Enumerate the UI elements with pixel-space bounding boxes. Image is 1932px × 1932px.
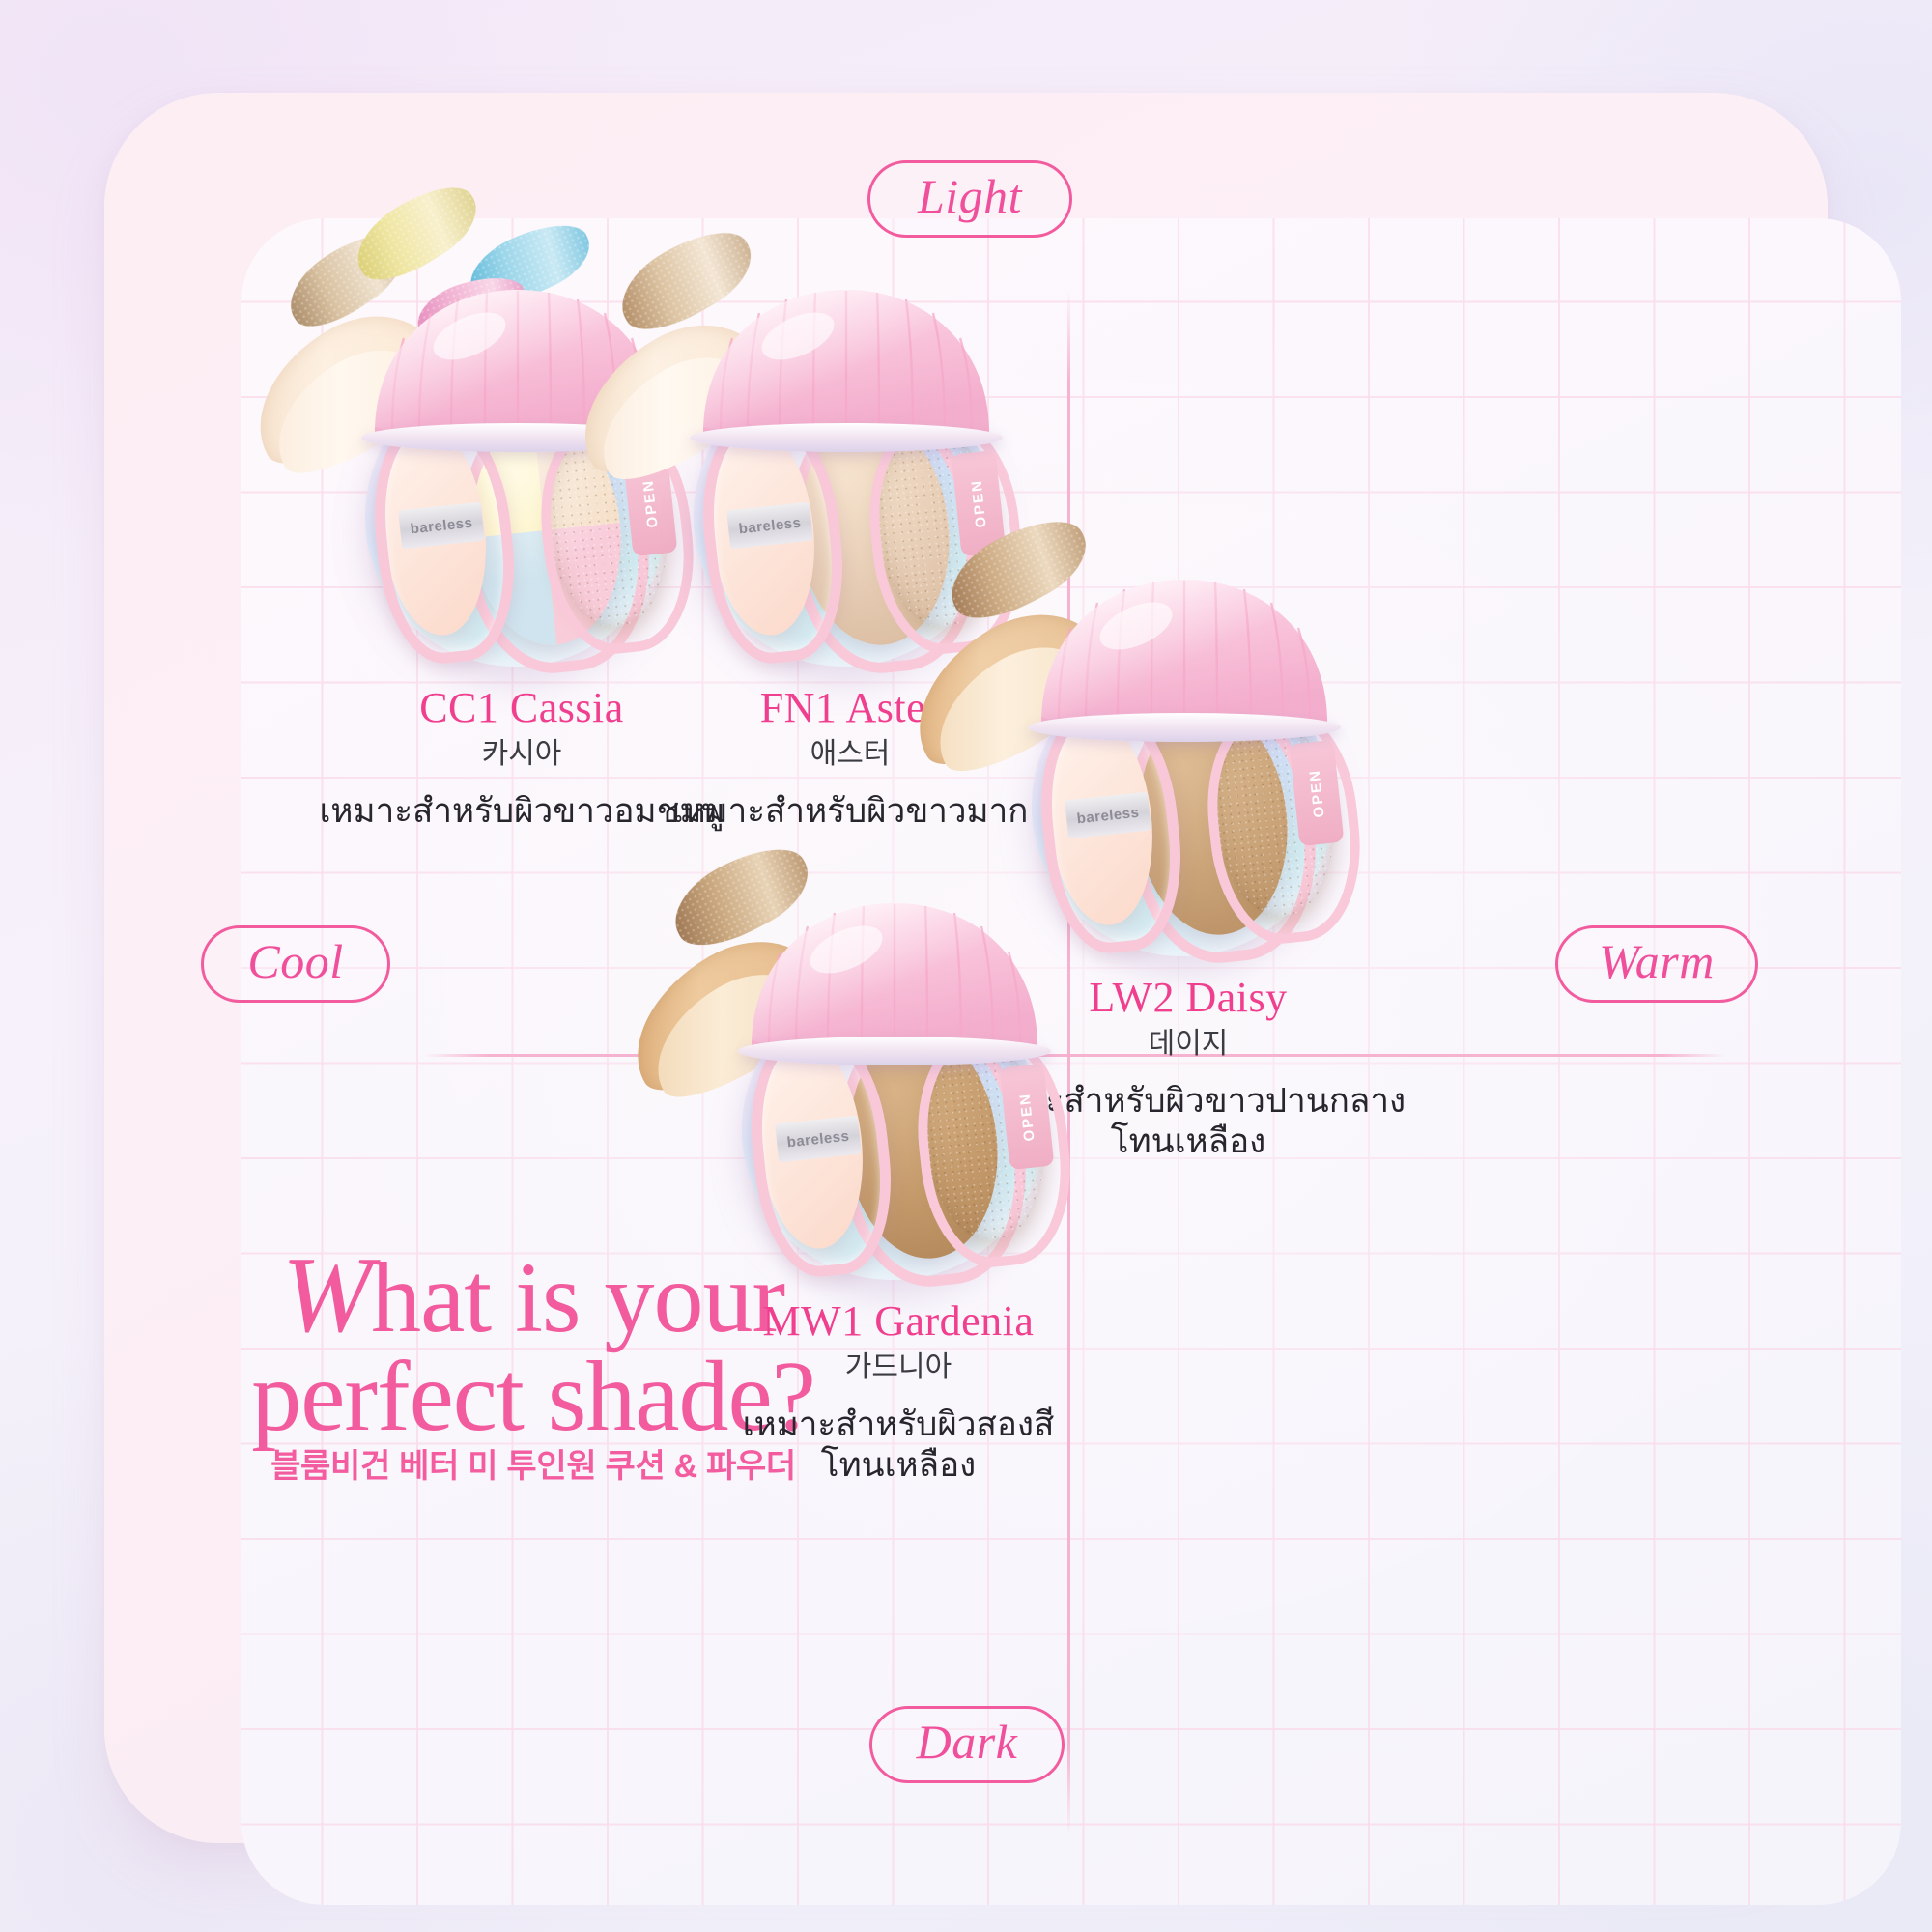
puff-tag-label: bareless: [738, 514, 802, 537]
puff-tag-label: bareless: [1076, 804, 1140, 827]
compact-lid[interactable]: [746, 899, 1043, 1069]
shade-description-th-line1: เหมาะสำหรับผิวสองสี: [676, 1405, 1121, 1446]
puff-tag-label: bareless: [410, 514, 473, 537]
axis-label-dark: Dark: [869, 1706, 1065, 1783]
compact-rim: [1028, 713, 1341, 742]
shade-name: MW1 Gardenia: [676, 1299, 1121, 1345]
open-tab-label: OPEN: [1306, 768, 1327, 818]
compact-lid[interactable]: [1036, 576, 1333, 746]
compact-lid[interactable]: [697, 286, 995, 456]
product-mw1-gardenia[interactable]: bnb OPEN bareless: [676, 903, 1121, 1502]
axis-label-warm: Warm: [1555, 925, 1758, 1003]
axis-label-dark-text: Dark: [917, 1718, 1018, 1766]
headline-capital: W: [282, 1236, 371, 1355]
compact-rim: [690, 423, 1003, 452]
shade-name-kr: 가드니아: [676, 1351, 1121, 1383]
open-tab-label: OPEN: [1016, 1092, 1037, 1142]
compact-rim: [738, 1037, 1051, 1065]
axis-label-light: Light: [867, 160, 1072, 238]
caption-mw1: MW1 Gardenia 가드니아 เหมาะสำหรับผิวสองสี โท…: [676, 1299, 1121, 1487]
axis-label-cool-text: Cool: [247, 937, 343, 985]
axis-label-warm-text: Warm: [1599, 937, 1715, 985]
shade-description-th-line2: โทนเหลือง: [676, 1445, 1121, 1487]
axis-label-light-text: Light: [918, 172, 1022, 220]
poster-canvas: Light Cool Warm Dark What is your perfec…: [0, 0, 1932, 1932]
open-tab-label: OPEN: [968, 478, 989, 528]
axis-label-cool: Cool: [201, 925, 390, 1003]
puff-tag-label: bareless: [786, 1127, 850, 1151]
compact-mw1[interactable]: bnb OPEN bareless: [719, 921, 1066, 1268]
compact-lw2[interactable]: bnb OPEN bareless: [1009, 597, 1356, 945]
